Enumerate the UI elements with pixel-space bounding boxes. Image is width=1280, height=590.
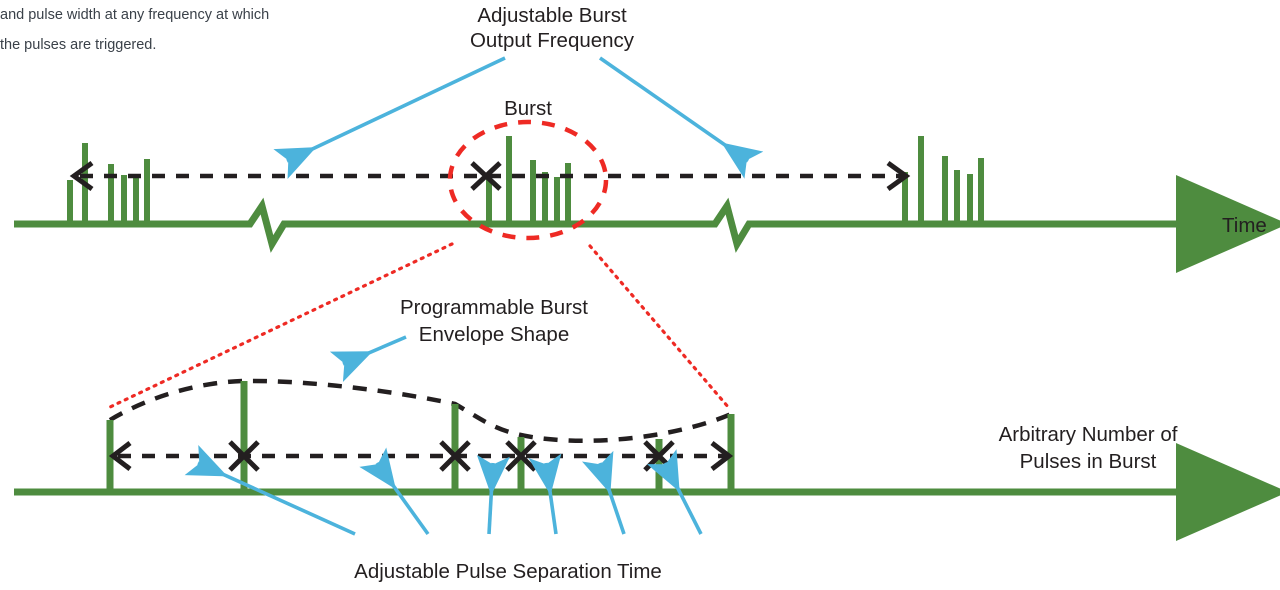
burst-frequency-label-line1: Adjustable Burst <box>477 4 627 27</box>
burst-envelope-curve <box>110 381 731 441</box>
envelope-label-line2: Envelope Shape <box>419 323 569 346</box>
pulse-separation-label: Adjustable Pulse Separation Time <box>354 560 662 583</box>
freq-right-callout-arrow <box>600 58 748 161</box>
separation-callout-arrow-6 <box>665 463 701 534</box>
right-burst-group <box>905 136 981 224</box>
envelope-callout-arrow <box>343 337 406 364</box>
diagram-stage: and pulse width at any frequency at whic… <box>0 0 1280 590</box>
burst-frequency-label-line2: Output Frequency <box>470 29 635 52</box>
separation-callout-arrow-5 <box>600 463 624 534</box>
burst-timing-diagram: Adjustable Burst Output Frequency Burst … <box>0 0 1280 590</box>
top-pulse-train-panel <box>14 122 1185 244</box>
separation-callout-arrow-3 <box>489 463 493 534</box>
freq-left-callout-arrow <box>287 58 505 161</box>
separation-callout-arrow-4 <box>546 463 556 534</box>
detail-pulse-group <box>110 381 731 492</box>
time-axis-label: Time <box>1222 214 1267 237</box>
zoom-leader-right <box>590 246 729 408</box>
center-burst-group <box>489 136 568 224</box>
separation-callout-arrow-1 <box>198 463 355 534</box>
separation-callout-arrow-2 <box>377 463 428 534</box>
burst-label: Burst <box>504 97 552 120</box>
top-time-axis <box>14 206 1185 244</box>
envelope-label-line1: Programmable Burst <box>400 296 588 319</box>
pulse-count-label-line1: Arbitrary Number of <box>999 423 1178 446</box>
pulse-count-label-line2: Pulses in Burst <box>1020 450 1157 473</box>
